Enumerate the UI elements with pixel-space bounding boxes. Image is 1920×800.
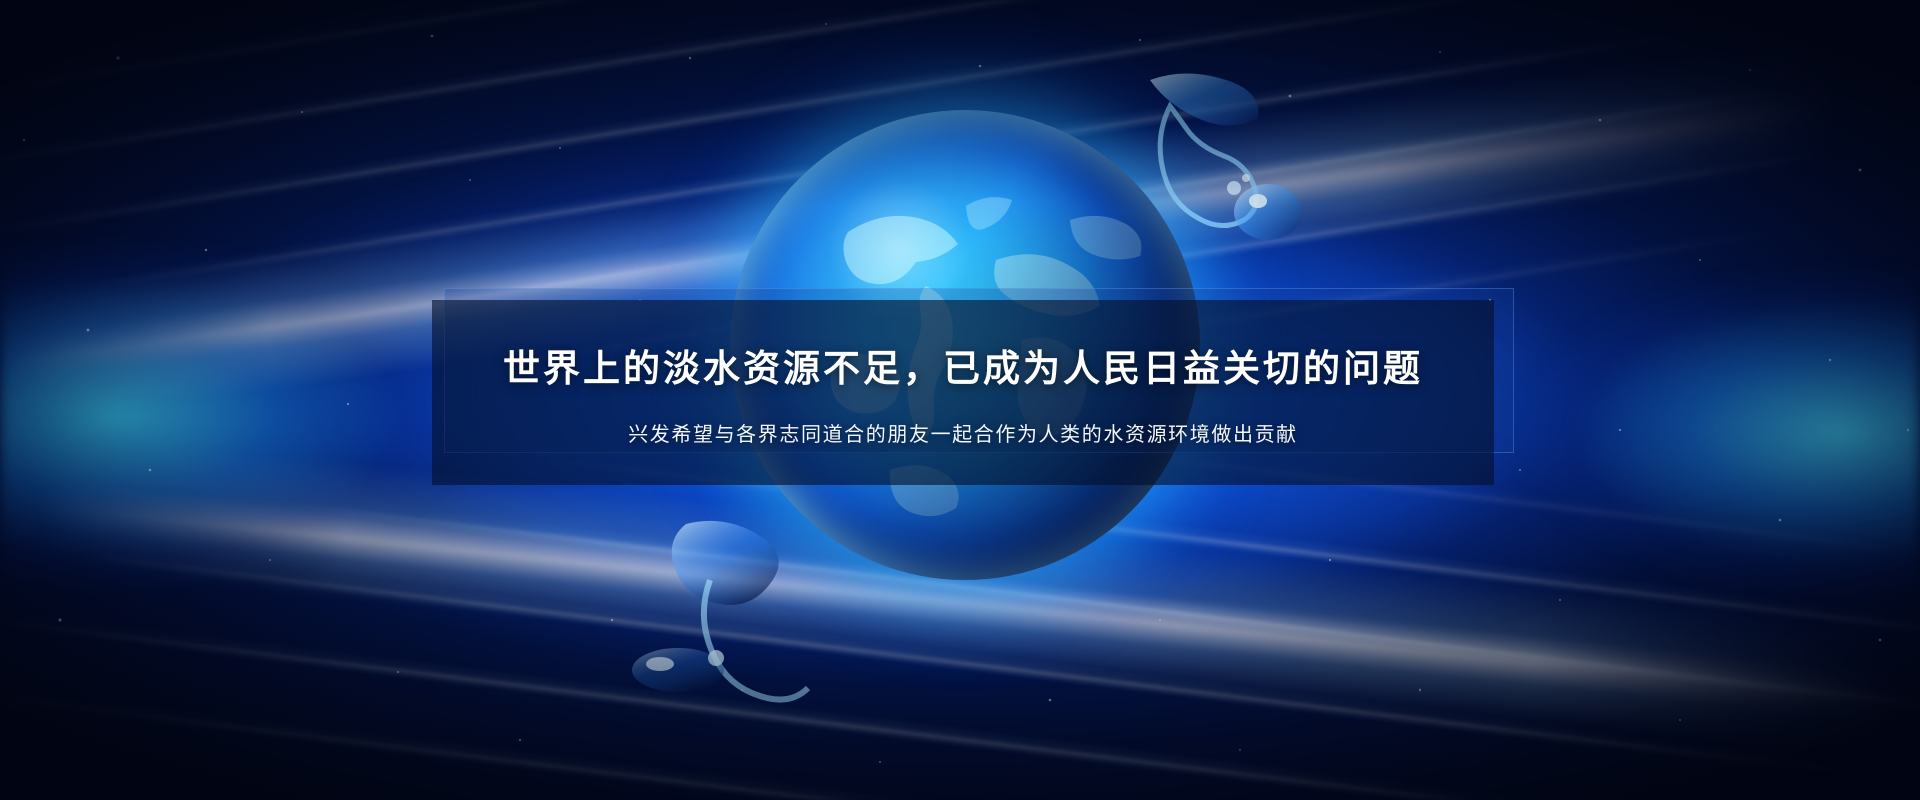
- hero-subheadline: 兴发希望与各界志同道合的朋友一起合作为人类的水资源环境做出贡献: [628, 418, 1298, 447]
- panel-content: 世界上的淡水资源不足，已成为人民日益关切的问题 兴发希望与各界志同道合的朋友一起…: [432, 300, 1494, 485]
- hero-banner: 世界上的淡水资源不足，已成为人民日益关切的问题 兴发希望与各界志同道合的朋友一起…: [0, 0, 1920, 800]
- hero-headline: 世界上的淡水资源不足，已成为人民日益关切的问题: [503, 338, 1423, 392]
- hero-text-panel: 世界上的淡水资源不足，已成为人民日益关切的问题 兴发希望与各界志同道合的朋友一起…: [432, 288, 1514, 485]
